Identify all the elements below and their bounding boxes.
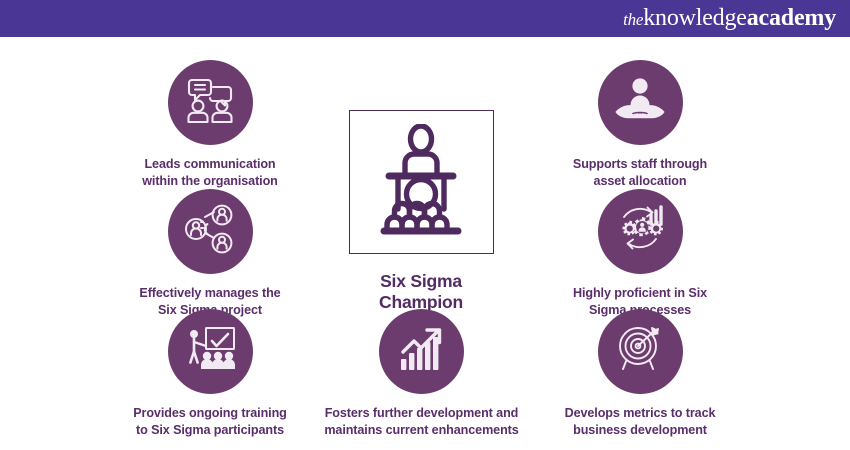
caption-line-2: maintains current enhancements — [324, 423, 518, 437]
trainer-whiteboard-icon — [182, 324, 238, 379]
item-manages-project[interactable]: Effectively manages the Six Sigma projec… — [120, 189, 300, 318]
center-icon-box — [349, 110, 494, 254]
center-node-label: Six Sigma Champion — [336, 271, 506, 313]
item-leads-communication[interactable]: Leads communication within the organisat… — [120, 60, 300, 189]
item-fosters-development[interactable]: Fosters further development and maintain… — [318, 309, 525, 438]
infographic-canvas: Leads communication within the organisat… — [0, 37, 850, 450]
caption-line-1: Provides ongoing training — [133, 406, 287, 420]
icon-circle — [379, 309, 464, 394]
brand-logo-the: the — [623, 10, 643, 30]
brand-logo-knowledge: knowledge — [643, 5, 747, 32]
item-caption: Supports staff through asset allocation — [550, 156, 730, 189]
item-proficient-processes[interactable]: Highly proficient in Six Sigma processes — [550, 189, 730, 318]
people-network-icon — [183, 203, 237, 260]
icon-circle — [168, 309, 253, 394]
item-supports-staff[interactable]: Supports staff through asset allocation — [550, 60, 730, 189]
brand-logo-academy: academy — [747, 5, 836, 32]
gears-person-chart-icon — [611, 203, 669, 260]
growth-chart-arrow-icon — [396, 325, 448, 378]
caption-line-2: within the organisation — [142, 174, 278, 188]
page-header: theknowledgeacademy — [0, 0, 850, 37]
people-speech-bubbles-icon — [182, 75, 238, 130]
center-node-six-sigma-champion[interactable]: Six Sigma Champion — [336, 110, 506, 313]
person-in-hands-icon — [613, 75, 667, 130]
caption-line-2: business development — [573, 423, 707, 437]
caption-line-1: Highly proficient in Six — [573, 286, 707, 300]
caption-line-1: Effectively manages the — [139, 286, 280, 300]
caption-line-1: Leads communication — [144, 157, 275, 171]
item-caption: Leads communication within the organisat… — [120, 156, 300, 189]
item-caption: Provides ongoing training to Six Sigma p… — [120, 405, 300, 438]
target-arrow-icon — [614, 324, 666, 379]
caption-line-1: Develops metrics to track — [565, 406, 716, 420]
item-develops-metrics[interactable]: Develops metrics to track business devel… — [550, 309, 730, 438]
caption-line-1: Supports staff through — [573, 157, 707, 171]
caption-line-1: Fosters further development and — [325, 406, 519, 420]
icon-circle — [168, 189, 253, 274]
icon-circle — [168, 60, 253, 145]
item-caption: Develops metrics to track business devel… — [550, 405, 730, 438]
caption-line-2: asset allocation — [594, 174, 687, 188]
icon-circle — [598, 309, 683, 394]
item-caption: Fosters further development and maintain… — [318, 405, 525, 438]
brand-logo: theknowledgeacademy — [623, 5, 836, 32]
icon-circle — [598, 189, 683, 274]
speaker-at-podium-icon — [367, 124, 475, 241]
caption-line-2: to Six Sigma participants — [136, 423, 284, 437]
item-provides-training[interactable]: Provides ongoing training to Six Sigma p… — [120, 309, 300, 438]
icon-circle — [598, 60, 683, 145]
